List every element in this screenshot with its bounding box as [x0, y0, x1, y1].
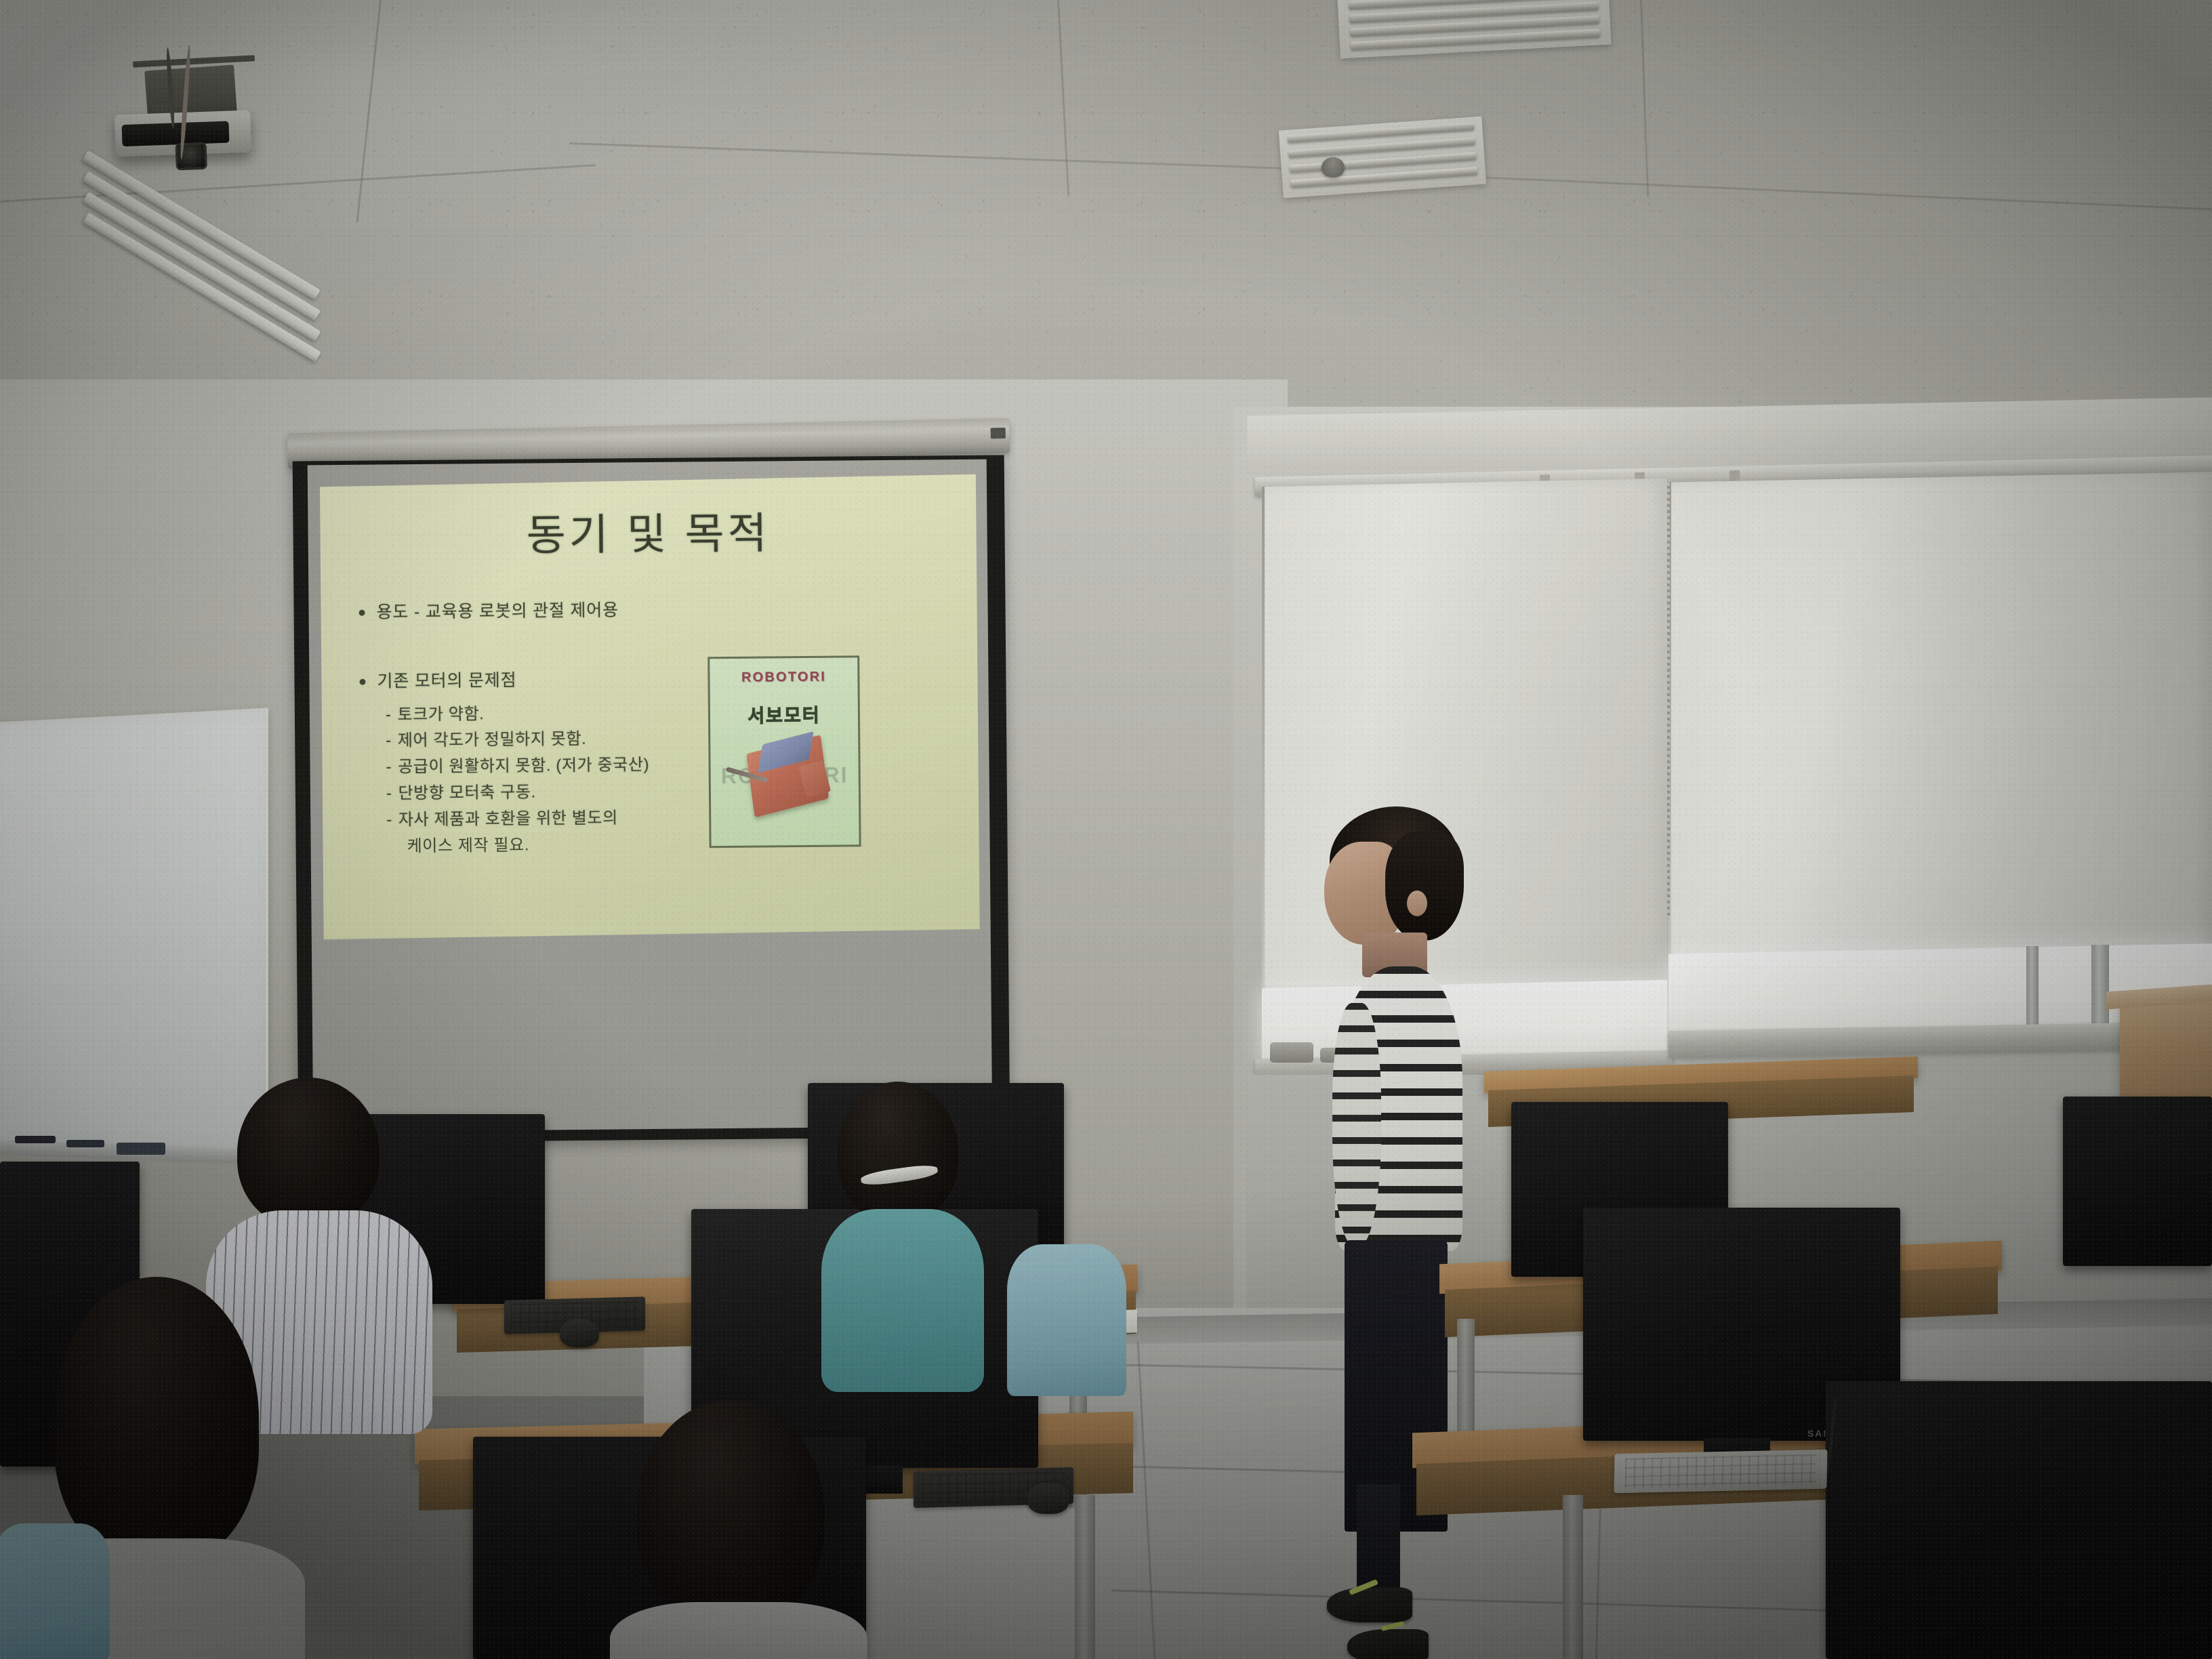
dash-icon: -: [386, 732, 392, 750]
presenter-ear: [1407, 890, 1427, 916]
student-head: [838, 1082, 958, 1223]
bullet-dot-icon: [359, 679, 365, 685]
slide-bullet: 기존 모터의 문제점: [359, 664, 966, 694]
presenter-arm: [1332, 1003, 1381, 1247]
roller-blind-right[interactable]: [1668, 472, 2212, 956]
bullet-dot-icon: [359, 610, 365, 616]
slide-bullet-label: 기존 모터의 문제점: [377, 668, 516, 694]
projection-screen: 동기 및 목적 용도 - 교육용 로봇의 관절 제어용 기존 모터의 문제점 -…: [293, 455, 1010, 1143]
whiteboard-eraser: [117, 1143, 165, 1155]
student-shirt: [0, 1523, 110, 1659]
ceiling-air-diffuser: [1279, 117, 1486, 199]
mouse-left[interactable]: [560, 1319, 599, 1347]
dash-icon: -: [386, 758, 392, 777]
product-subtitle-label: 서보모터: [710, 701, 858, 729]
student-head: [637, 1400, 824, 1624]
slide-subbullet-label: 공급이 원활하지 못함. (저가 중국산): [398, 756, 649, 776]
student-head: [54, 1277, 259, 1561]
whiteboard-marker: [66, 1140, 104, 1147]
slide-subbullet-label: 단방향 모터축 구동.: [398, 783, 535, 803]
blind-edge: [1262, 487, 1265, 989]
slide-subbullet-continuation: 케이스 제작 필요.: [361, 829, 968, 861]
slide-title: 동기 및 목적: [320, 497, 977, 565]
window-sill-object: [1270, 1042, 1313, 1063]
slide-bullet: 용도 - 교육용 로봇의 관절 제어용: [359, 595, 966, 625]
slide-subbullet-label: 자사 제품과 호환을 위한 별도의: [398, 808, 618, 829]
blind-pull-chain[interactable]: [1667, 483, 1670, 916]
slide-body: 용도 - 교육용 로봇의 관절 제어용 기존 모터의 문제점 -토크가 약함. …: [359, 595, 968, 861]
student-shirt: [610, 1602, 867, 1659]
mouse-center[interactable]: [1027, 1483, 1069, 1514]
presenter-hair-side: [1385, 831, 1464, 941]
roller-blind-left[interactable]: [1262, 478, 1667, 990]
product-brand-label: ROBOTORI: [710, 669, 857, 686]
whiteboard-marker: [15, 1136, 56, 1143]
projector-front-panel: [121, 121, 229, 147]
slide-subbullet-label: 토크가 약함.: [397, 705, 484, 724]
projected-slide: 동기 및 목적 용도 - 교육용 로봇의 관절 제어용 기존 모터의 문제점 -…: [320, 474, 980, 939]
window-mullion: [2026, 946, 2039, 1031]
screen-housing-endcap: [991, 427, 1006, 438]
classroom-photo: 동기 및 목적 용도 - 교육용 로봇의 관절 제어용 기존 모터의 문제점 -…: [0, 0, 2212, 1659]
dash-icon: -: [386, 705, 392, 724]
slide-product-image: ROBOTORI 서보모터 ROBOTORI: [708, 655, 861, 848]
slide-subbullet-label: 제어 각도가 정밀하지 못함.: [398, 730, 587, 750]
dash-icon: -: [386, 811, 392, 829]
screen-surface: 동기 및 목적 용도 - 교육용 로봇의 관절 제어용 기존 모터의 문제점 -…: [308, 459, 993, 1132]
student-head: [237, 1078, 380, 1228]
monitor-right-far: [2063, 1097, 2212, 1266]
projector-lens: [175, 142, 207, 170]
slide-bullet-label: 용도 - 교육용 로봇의 관절 제어용: [376, 598, 619, 624]
whiteboard: [0, 708, 268, 1158]
dash-icon: -: [386, 784, 392, 802]
student-shirt: [821, 1209, 984, 1392]
window-mullion: [2091, 945, 2109, 1030]
student-shirt: [1007, 1244, 1126, 1396]
sprinkler-head: [1322, 157, 1345, 178]
